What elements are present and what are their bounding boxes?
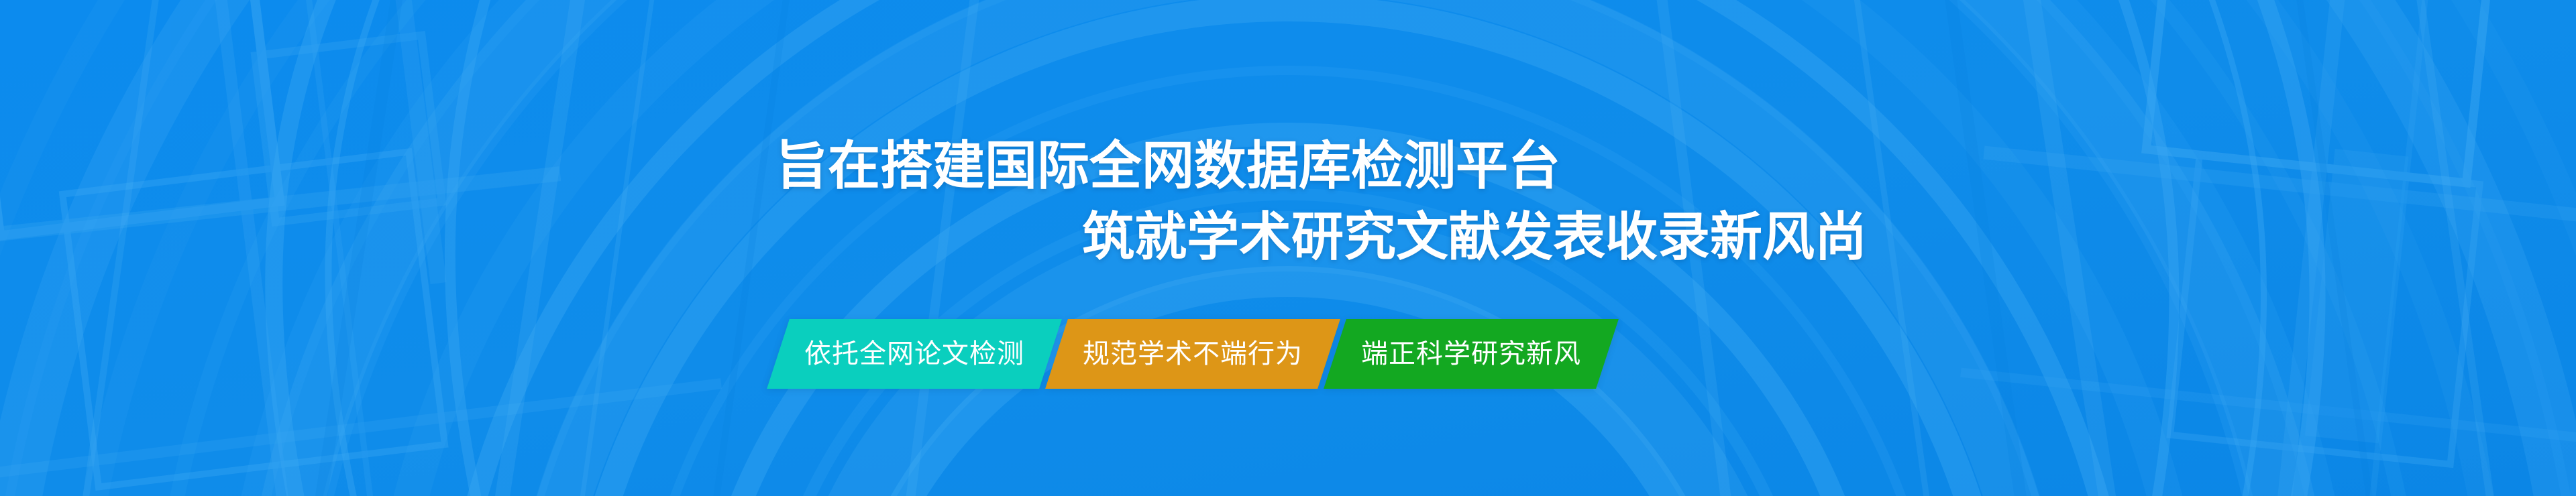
feature-tag-misconduct-regulation[interactable]: 规范学术不端行为	[1045, 319, 1340, 389]
feature-tag-paper-detection[interactable]: 依托全网论文检测	[767, 319, 1062, 389]
feature-tag-label: 端正科学研究新风	[1361, 340, 1581, 367]
feature-tag-label: 依托全网论文检测	[804, 340, 1024, 367]
feature-tag-row: 依托全网论文检测 规范学术不端行为 端正科学研究新风	[778, 319, 1607, 389]
feature-tag-research-ethos[interactable]: 端正科学研究新风	[1324, 319, 1619, 389]
background-decoration	[0, 0, 2576, 496]
promo-banner: 旨在搭建国际全网数据库检测平台 筑就学术研究文献发表收录新风尚 依托全网论文检测…	[0, 0, 2576, 496]
feature-tag-label: 规范学术不端行为	[1083, 340, 1303, 367]
